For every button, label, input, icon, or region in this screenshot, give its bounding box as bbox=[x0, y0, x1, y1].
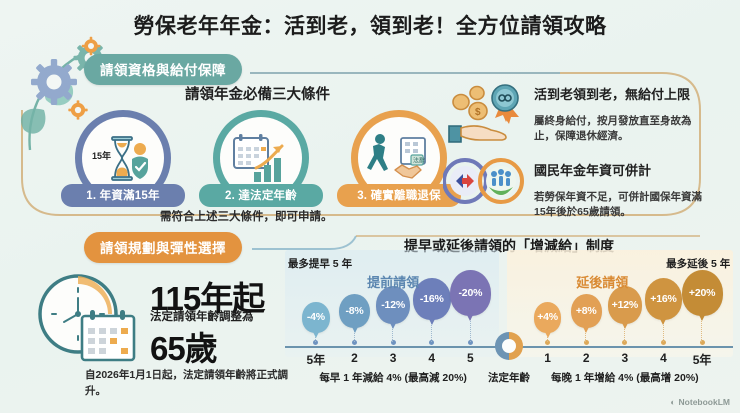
benefit-icon-1-wrap: $ bbox=[443, 80, 525, 151]
chart-tick-label: 5年 bbox=[693, 351, 712, 368]
chart-balloon: +12% bbox=[608, 286, 642, 324]
calendar-growth-chart-icon bbox=[230, 130, 292, 186]
chart-footnote-center: 法定年齡 bbox=[488, 370, 530, 385]
chart-footnote-early: 每早 1 年減給 4% (最高減 20%) bbox=[319, 370, 467, 385]
chart-balloon: -8% bbox=[339, 294, 370, 328]
chart-balloon: -4% bbox=[302, 302, 329, 333]
chart-balloon: +20% bbox=[682, 270, 723, 316]
balloon-value-label: +8% bbox=[576, 305, 597, 317]
balloon-value-label: +4% bbox=[537, 311, 558, 323]
chart-tick-label: 4 bbox=[428, 351, 435, 365]
age-line-3: 65歲 bbox=[150, 322, 217, 370]
watermark: ◐ NotebookLM bbox=[670, 397, 730, 407]
chart-balloon: -20% bbox=[450, 270, 491, 316]
benefit-block-2: 國民年金年資可併計 若勞保年資不足，可併計國保年資滿15年後於65歲請領。 bbox=[534, 160, 706, 230]
benefit-body-2: 若勞保年資不足，可併計國保年資滿15年後於65歲請領。 bbox=[534, 190, 706, 220]
chart-footnote-late: 每晚 1 年增給 4% (最高增 20%) bbox=[551, 370, 699, 385]
condition-label-1: 1. 年資滿15年 bbox=[61, 184, 185, 207]
balloon-value-label: -12% bbox=[381, 299, 405, 311]
page-title: 勞保老年年金：活到老，領到老！全方位請領攻略 bbox=[0, 10, 740, 40]
chart-tick-label: 2 bbox=[583, 351, 590, 365]
statutory-age-block: 115年起 法定請領年齡調整為 65歲 自2026年1月1日起，法定請領年齡將正… bbox=[30, 268, 280, 408]
chart-tick-label: 3 bbox=[622, 351, 629, 365]
svg-text:法辭: 法辭 bbox=[413, 157, 425, 165]
conditions-heading: 請領年金必備三大條件 bbox=[185, 83, 330, 104]
chart-tick-label: 3 bbox=[390, 351, 397, 365]
chart-tick-label: 4 bbox=[660, 351, 667, 365]
section-pill-eligibility: 請領資格與給付保障 bbox=[84, 54, 242, 85]
walking-person-handshake-icon: 法辭 bbox=[367, 130, 431, 186]
balloon-value-label: -20% bbox=[459, 287, 483, 299]
notebooklm-logo-icon: ◐ bbox=[670, 397, 675, 407]
condition-label-2: 2. 達法定年齡 bbox=[199, 184, 323, 207]
balloon-value-label: -16% bbox=[420, 293, 444, 305]
chart-group-label-early: 提前請領 bbox=[367, 272, 419, 291]
chart-tick-label: 2 bbox=[351, 351, 358, 365]
conditions-note: 需符合上述三大條件，即可申請。 bbox=[160, 208, 333, 224]
adjustment-balloon-chart: -4%-8%-12%-16%-20%+4%+8%+12%+16%+20%5年23… bbox=[285, 250, 733, 365]
chart-balloon: +4% bbox=[534, 302, 561, 333]
chart-balloon: +16% bbox=[645, 278, 683, 320]
section-pill-planning: 請領規劃與彈性選擇 bbox=[84, 232, 242, 263]
infographic-canvas: 勞保老年年金：活到老，領到老！全方位請領攻略 請領資格與給付保障 請領年金必備三… bbox=[0, 0, 740, 413]
labor-insurance-national-pension-logos-icon bbox=[443, 155, 527, 207]
chart-tick-label: 5年 bbox=[307, 351, 326, 368]
benefit-title-1: 活到老領到老，無給付上限 bbox=[534, 84, 706, 103]
age-note: 自2026年1月1日起，法定請領年齡將正式調升。 bbox=[85, 368, 290, 400]
chart-cap-late: 最多延後 5 年 bbox=[666, 256, 730, 271]
condition-item-3: 法辭 3. 確實離職退保 bbox=[351, 110, 447, 206]
statutory-age-marker bbox=[495, 332, 523, 360]
chart-balloon: -12% bbox=[376, 286, 410, 324]
hand-coins-medal-icon: $ bbox=[443, 80, 525, 146]
clock-calendar-icon bbox=[30, 270, 148, 366]
watermark-label: NotebookLM bbox=[679, 397, 730, 407]
chart-group-label-late: 延後請領 bbox=[576, 272, 628, 291]
chart-balloon: +8% bbox=[571, 294, 602, 328]
benefit-body-1: 屬終身給付，按月發放直至身故為止，保障退休經濟。 bbox=[534, 114, 706, 144]
balloon-value-label: +16% bbox=[650, 293, 676, 305]
marker-hole bbox=[502, 339, 516, 353]
condition-badge-text: 15年 bbox=[92, 150, 111, 161]
balloon-value-label: -4% bbox=[307, 311, 325, 323]
dollar-glyph: $ bbox=[475, 107, 481, 118]
balloon-value-label: +12% bbox=[612, 299, 638, 311]
benefit-block-1: 活到老領到老，無給付上限 屬終身給付，按月發放直至身故為止，保障退休經濟。 bbox=[534, 84, 706, 154]
hourglass-shield-icon: 15年 bbox=[90, 129, 156, 187]
chart-tick-label: 5 bbox=[467, 351, 474, 365]
balloon-value-label: -8% bbox=[345, 305, 363, 317]
chart-tick-label: 1 bbox=[544, 351, 551, 365]
balloon-value-label: +20% bbox=[689, 287, 715, 299]
condition-item-2: 2. 達法定年齡 bbox=[213, 110, 309, 206]
chart-cap-early: 最多提早 5 年 bbox=[288, 256, 352, 271]
condition-item-1: 15年 1. 年資滿15年 bbox=[75, 110, 171, 206]
benefit-icon-2-wrap bbox=[443, 155, 527, 212]
benefit-title-2: 國民年金年資可併計 bbox=[534, 160, 706, 179]
